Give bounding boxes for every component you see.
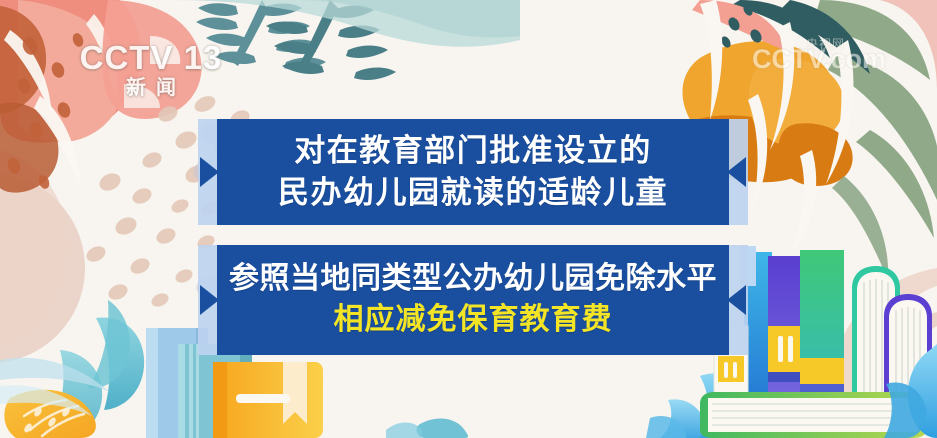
cctv-watermark: CCTV.com 央视网 [752,46,886,73]
caption-2-line-2: 相应减免保育教育费 [334,300,613,341]
caption-2-right-arrow-icon [727,285,746,315]
caption-2-panel: 参照当地同类型公办幼儿园免除水平 相应减免保育教育费 [217,245,729,355]
broadcast-frame: CCTV 13 新闻 CCTV.com 央视网 对在教育部门批准设立的 民办幼儿… [0,0,937,438]
caption-1-line-1: 对在教育部门批准设立的 [294,130,652,172]
caption-box-1: 对在教育部门批准设立的 民办幼儿园就读的适龄儿童 [217,119,729,225]
channel-logo: CCTV 13 新闻 [56,36,246,102]
caption-1-panel: 对在教育部门批准设立的 民办幼儿园就读的适龄儿童 [217,119,729,225]
caption-1-left-arrow-icon [200,157,219,187]
channel-logo-sub: 新闻 [116,78,186,98]
caption-1-right-arrow-icon [727,157,746,187]
caption-box-2: 参照当地同类型公办幼儿园免除水平 相应减免保育教育费 [217,245,729,355]
channel-logo-main: CCTV 13 [80,41,223,74]
watermark-chinese-text: 央视网 [806,35,845,52]
caption-2-left-arrow-icon [200,285,219,315]
caption-1-line-2: 民办幼儿园就读的适龄儿童 [278,172,668,214]
caption-2-line-1: 参照当地同类型公办幼儿园免除水平 [229,259,717,300]
